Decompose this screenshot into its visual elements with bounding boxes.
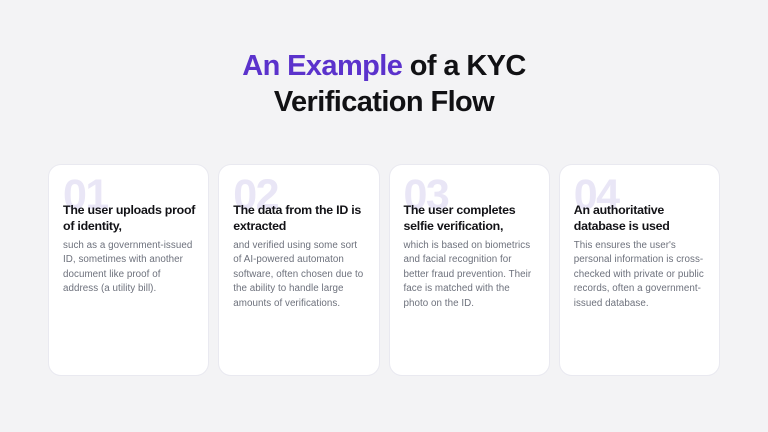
- step-text-03: which is based on biometrics and facial …: [404, 239, 537, 311]
- step-heading-02: The data from the ID is extracted: [233, 203, 366, 234]
- title-rest-text: of a KYC: [402, 50, 526, 82]
- title-line-2: Verification Flow: [0, 84, 768, 120]
- step-card-body: An authoritative database is used This e…: [574, 203, 707, 311]
- step-card-body: The user completes selfie verification, …: [404, 203, 537, 311]
- title-accent-text: An Example: [242, 50, 402, 82]
- step-heading-03: The user completes selfie verification,: [404, 203, 537, 234]
- step-text-01: such as a government-issued ID, sometime…: [63, 239, 196, 297]
- step-card-04[interactable]: 04 An authoritative database is used Thi…: [559, 164, 720, 376]
- step-heading-04: An authoritative database is used: [574, 203, 707, 234]
- step-text-02: and verified using some sort of AI-power…: [233, 239, 366, 311]
- title-line-1: An Example of a KYC: [0, 48, 768, 84]
- step-card-02[interactable]: 02 The data from the ID is extracted and…: [218, 164, 379, 376]
- page-title: An Example of a KYC Verification Flow: [0, 48, 768, 120]
- step-card-body: The data from the ID is extracted and ve…: [233, 203, 366, 311]
- step-text-04: This ensures the user's personal informa…: [574, 239, 707, 311]
- step-heading-01: The user uploads proof of identity,: [63, 203, 196, 234]
- step-card-03[interactable]: 03 The user completes selfie verificatio…: [389, 164, 550, 376]
- step-card-body: The user uploads proof of identity, such…: [63, 203, 196, 297]
- step-card-01[interactable]: 01 The user uploads proof of identity, s…: [48, 164, 209, 376]
- slide-canvas: An Example of a KYC Verification Flow 01…: [0, 0, 768, 432]
- steps-card-row: 01 The user uploads proof of identity, s…: [48, 164, 720, 376]
